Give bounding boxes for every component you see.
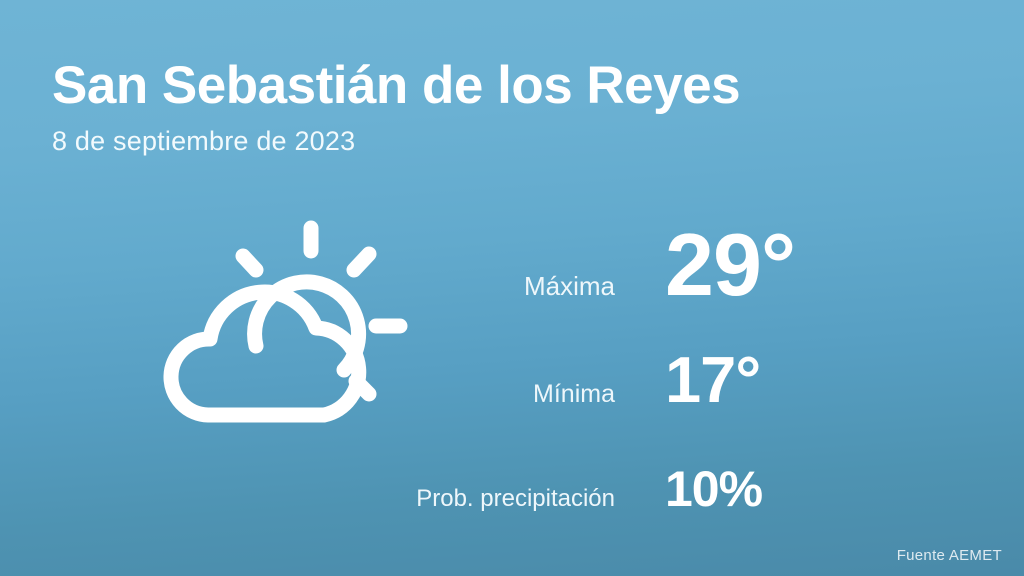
card-header: San Sebastián de los Reyes 8 de septiemb…: [52, 56, 752, 157]
reading-label-maxima: Máxima: [400, 271, 665, 302]
reading-value-minima: 17°: [665, 342, 760, 417]
reading-row-minima: Mínima 17°: [400, 342, 960, 460]
weather-card: San Sebastián de los Reyes 8 de septiemb…: [0, 0, 1024, 576]
reading-value-maxima: 29°: [665, 214, 795, 316]
sun-behind-cloud-icon: [148, 218, 438, 443]
location-title: San Sebastián de los Reyes: [52, 56, 752, 116]
reading-label-minima: Mínima: [400, 380, 665, 409]
readings-list: Máxima 29° Mínima 17° Prob. precipitació…: [400, 214, 960, 540]
reading-label-precipitation: Prob. precipitación: [400, 485, 665, 513]
reading-row-maxima: Máxima 29°: [400, 214, 960, 342]
reading-value-precipitation: 10%: [665, 460, 762, 518]
reading-row-precipitation: Prob. precipitación 10%: [400, 460, 960, 540]
forecast-date: 8 de septiembre de 2023: [52, 125, 752, 157]
source-attribution: Fuente AEMET: [897, 547, 1002, 564]
